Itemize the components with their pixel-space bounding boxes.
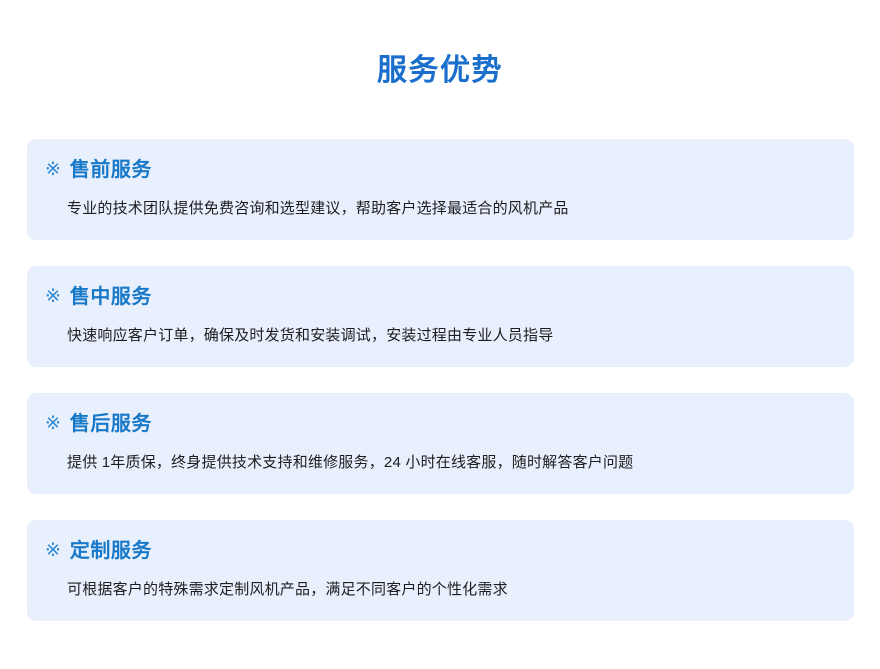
service-card: ※ 售后服务 提供 1年质保，终身提供技术支持和维修服务，24 小时在线客服，随… bbox=[27, 393, 854, 494]
service-card-description: 提供 1年质保，终身提供技术支持和维修服务，24 小时在线客服，随时解答客户问题 bbox=[27, 438, 854, 475]
service-card: ※ 定制服务 可根据客户的特殊需求定制风机产品，满足不同客户的个性化需求 bbox=[27, 520, 854, 621]
service-card-description: 快速响应客户订单，确保及时发货和安装调试，安装过程由专业人员指导 bbox=[27, 311, 854, 348]
service-card-description: 专业的技术团队提供免费咨询和选型建议，帮助客户选择最适合的风机产品 bbox=[27, 184, 854, 221]
service-card: ※ 售前服务 专业的技术团队提供免费咨询和选型建议，帮助客户选择最适合的风机产品 bbox=[27, 139, 854, 240]
service-card-list: ※ 售前服务 专业的技术团队提供免费咨询和选型建议，帮助客户选择最适合的风机产品… bbox=[27, 139, 854, 621]
reference-mark-icon: ※ bbox=[45, 541, 61, 560]
service-card-header: ※ 售中服务 bbox=[27, 283, 854, 311]
service-card-title: 售前服务 bbox=[70, 156, 152, 184]
reference-mark-icon: ※ bbox=[45, 160, 61, 179]
service-card-header: ※ 定制服务 bbox=[27, 537, 854, 565]
service-card-title: 售中服务 bbox=[70, 283, 152, 311]
service-card-description: 可根据客户的特殊需求定制风机产品，满足不同客户的个性化需求 bbox=[27, 565, 854, 602]
service-card-title: 售后服务 bbox=[70, 410, 152, 438]
service-advantages-page: 服务优势 ※ 售前服务 专业的技术团队提供免费咨询和选型建议，帮助客户选择最适合… bbox=[0, 0, 880, 669]
service-card-title: 定制服务 bbox=[70, 537, 152, 565]
reference-mark-icon: ※ bbox=[45, 287, 61, 306]
service-card-header: ※ 售后服务 bbox=[27, 410, 854, 438]
service-card: ※ 售中服务 快速响应客户订单，确保及时发货和安装调试，安装过程由专业人员指导 bbox=[27, 266, 854, 367]
service-card-header: ※ 售前服务 bbox=[27, 156, 854, 184]
reference-mark-icon: ※ bbox=[45, 414, 61, 433]
page-title: 服务优势 bbox=[0, 0, 880, 90]
